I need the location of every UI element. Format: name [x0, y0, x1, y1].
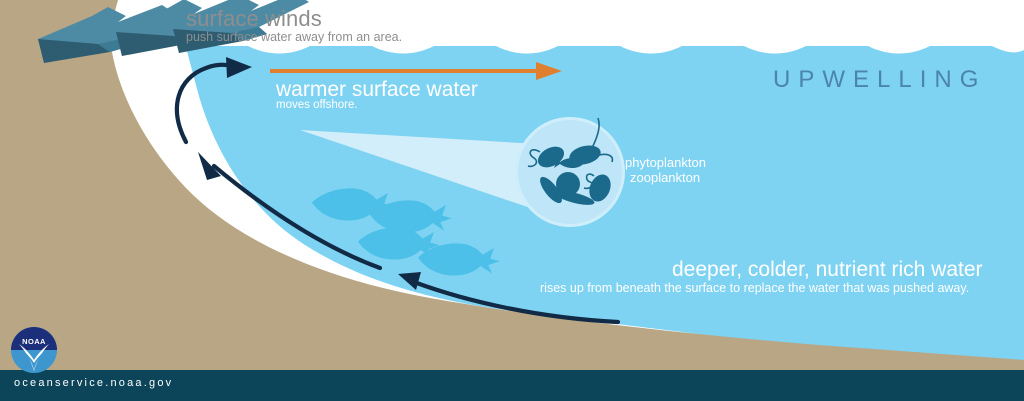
- diagram-canvas: NOAA: [0, 0, 1024, 401]
- upwelling-diagram: NOAA surface winds push surface water aw…: [0, 0, 1024, 401]
- plankton-magnifier-circle: [515, 117, 625, 227]
- footer-url[interactable]: oceanservice.noaa.gov: [14, 377, 173, 389]
- phytoplankton-label: phytoplankton: [625, 155, 706, 170]
- page-title: surface winds: [186, 6, 322, 32]
- noaa-logo-text: NOAA: [22, 337, 46, 346]
- noaa-logo[interactable]: NOAA: [11, 327, 57, 373]
- zooplankton-label: zooplankton: [630, 170, 700, 185]
- warmer-surface-water-subtitle: moves offshore.: [276, 99, 358, 111]
- deep-water-title: deeper, colder, nutrient rich water: [672, 258, 983, 282]
- deep-water-subtitle: rises up from beneath the surface to rep…: [540, 281, 969, 295]
- upwelling-banner-label: UPWELLING: [773, 66, 986, 94]
- page-subtitle: push surface water away from an area.: [186, 30, 402, 44]
